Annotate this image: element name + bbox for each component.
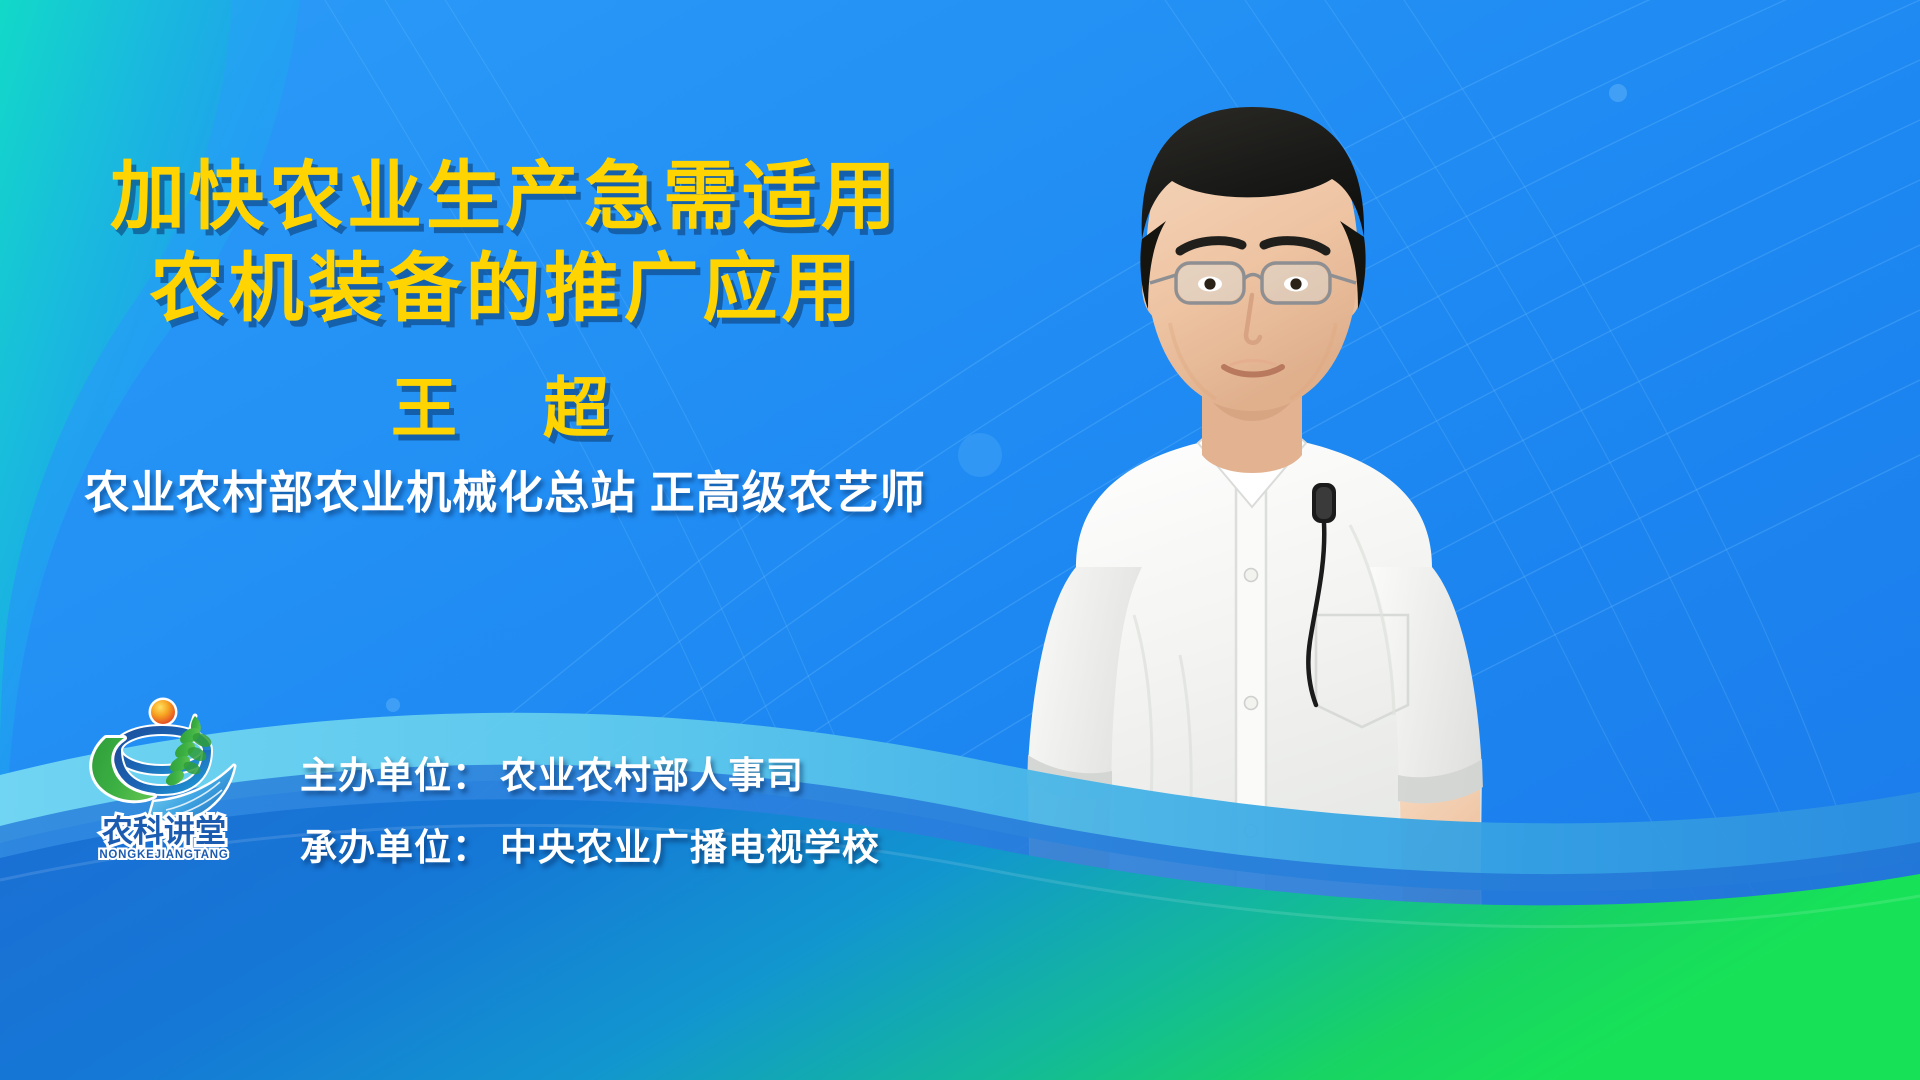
slide-canvas: 农科讲堂 NONGKEJIANGTANG 加快农业生产急需适用 农机装备的推广应… <box>0 0 1920 1080</box>
credit-row-organizer: 主办单位：农业农村部人事司 <box>300 740 880 812</box>
title-block: 加快农业生产急需适用 农机装备的推广应用 王 超 农业农村部农业机械化总站 正高… <box>0 150 1010 524</box>
credit-label-host: 承办单位： <box>300 827 490 868</box>
logo-name-cn: 农科讲堂 <box>102 814 226 849</box>
credit-value-organizer: 农业农村部人事司 <box>500 755 804 796</box>
logo-name-pinyin: NONGKEJIANGTANG <box>99 849 228 861</box>
speaker-name: 王 超 <box>0 368 1010 448</box>
lecture-title-line-1: 加快农业生产急需适用 <box>0 150 1010 242</box>
credit-value-host: 中央农业广播电视学校 <box>500 827 880 868</box>
speaker-affiliation: 农业农村部农业机械化总站 正高级农艺师 <box>0 462 1010 524</box>
credit-row-host: 承办单位：中央农业广播电视学校 <box>300 812 880 884</box>
credits-block: 主办单位：农业农村部人事司 承办单位：中央农业广播电视学校 <box>300 740 880 884</box>
credit-label-organizer: 主办单位： <box>300 755 490 796</box>
lecture-title-line-2: 农机装备的推广应用 <box>0 242 1010 334</box>
nongke-jiangtang-logo: 农科讲堂 NONGKEJIANGTANG <box>62 690 267 865</box>
